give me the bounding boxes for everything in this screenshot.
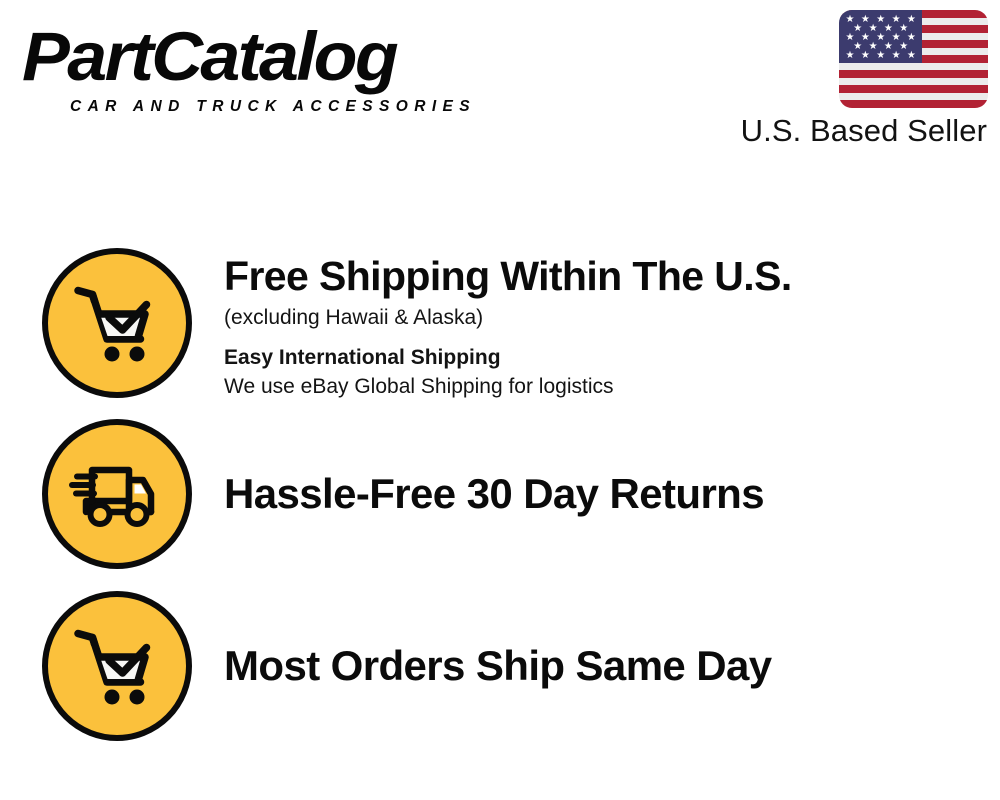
- feature-row: Most Orders Ship Same Day: [42, 591, 982, 741]
- feature-text: Hassle-Free 30 Day Returns: [192, 471, 982, 516]
- us-flag-icon: ★★★★★ ★★★★ ★★★★★ ★★★★ ★★★★★: [839, 10, 988, 108]
- feature-text: Most Orders Ship Same Day: [192, 643, 982, 688]
- feature-icon-badge: [42, 248, 192, 398]
- feature-icon-badge: [42, 419, 192, 569]
- brand-wordmark: PartCatalog: [22, 22, 396, 91]
- feature-subnote: (excluding Hawaii & Alaska): [224, 304, 982, 332]
- flag-star-row: ★★★★★: [839, 51, 922, 61]
- feature-row: Free Shipping Within The U.S. (excluding…: [42, 248, 982, 401]
- flag-stripe: [839, 100, 988, 108]
- flag-stripe: [839, 85, 988, 93]
- us-based-seller-badge: ★★★★★ ★★★★ ★★★★★ ★★★★ ★★★★★ U.S. Based S…: [718, 10, 988, 149]
- flag-stripe: [839, 70, 988, 78]
- feature-headline: Hassle-Free 30 Day Returns: [224, 471, 982, 516]
- us-based-seller-label: U.S. Based Seller: [718, 113, 988, 149]
- feature-subheading: Easy International Shipping: [224, 344, 982, 372]
- feature-headline: Free Shipping Within The U.S.: [224, 254, 982, 298]
- shopping-cart-check-icon: [67, 273, 167, 373]
- flag-canton: ★★★★★ ★★★★ ★★★★★ ★★★★ ★★★★★: [839, 10, 922, 63]
- delivery-truck-icon: [67, 444, 167, 544]
- feature-row: Hassle-Free 30 Day Returns: [42, 419, 982, 569]
- feature-icon-badge: [42, 591, 192, 741]
- feature-headline: Most Orders Ship Same Day: [224, 643, 982, 688]
- brand-logo: PartCatalog CAR AND TRUCK ACCESSORIES: [22, 22, 502, 117]
- feature-subtext: We use eBay Global Shipping for logistic…: [224, 373, 982, 401]
- brand-tagline: CAR AND TRUCK ACCESSORIES: [70, 98, 476, 116]
- feature-text: Free Shipping Within The U.S. (excluding…: [192, 248, 982, 401]
- shopping-cart-check-icon: [67, 616, 167, 716]
